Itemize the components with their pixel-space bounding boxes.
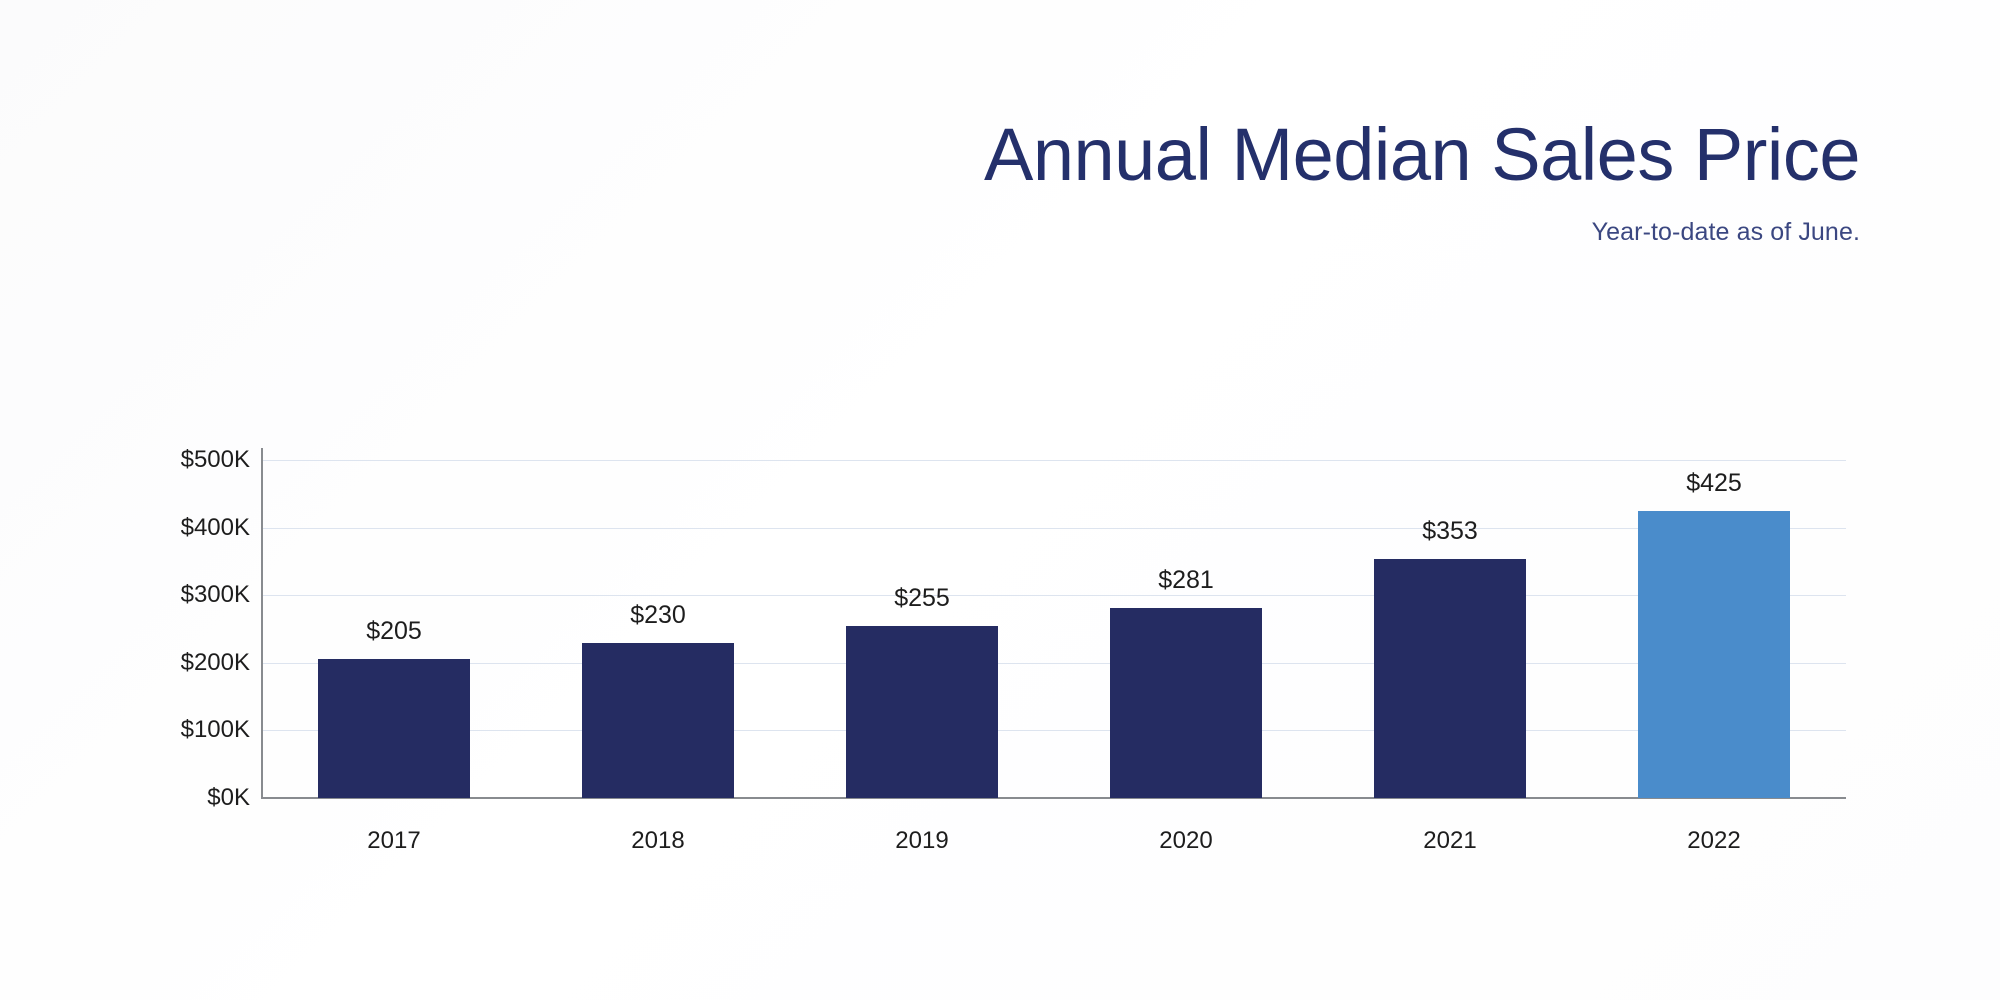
bar-2020[interactable]	[1110, 608, 1262, 798]
x-axis-tick-label: 2019	[895, 827, 948, 855]
bar-value-label: $281	[1158, 566, 1214, 595]
chart-plot-area: $0K$100K$200K$300K$400K$500K $2052017$23…	[0, 0, 2000, 1000]
bar-value-label: $255	[894, 584, 950, 613]
bar-2019[interactable]	[846, 626, 998, 798]
x-axis-tick-label: 2017	[367, 827, 420, 855]
bar-value-label: $205	[366, 617, 422, 646]
chart-page: Annual Median Sales Price Year-to-date a…	[0, 0, 2000, 1000]
bar-2022[interactable]	[1638, 511, 1790, 798]
bar-2017[interactable]	[318, 659, 470, 798]
bar-value-label: $425	[1686, 469, 1742, 498]
x-axis-tick-label: 2021	[1423, 827, 1476, 855]
bar-value-label: $353	[1422, 517, 1478, 546]
bar-series: $2052017$2302018$2552019$2812020$3532021…	[0, 0, 2000, 1000]
bar-value-label: $230	[630, 601, 686, 630]
x-axis-tick-label: 2022	[1687, 827, 1740, 855]
x-axis-tick-label: 2020	[1159, 827, 1212, 855]
bar-2021[interactable]	[1374, 559, 1526, 798]
x-axis-tick-label: 2018	[631, 827, 684, 855]
bar-2018[interactable]	[582, 643, 734, 798]
